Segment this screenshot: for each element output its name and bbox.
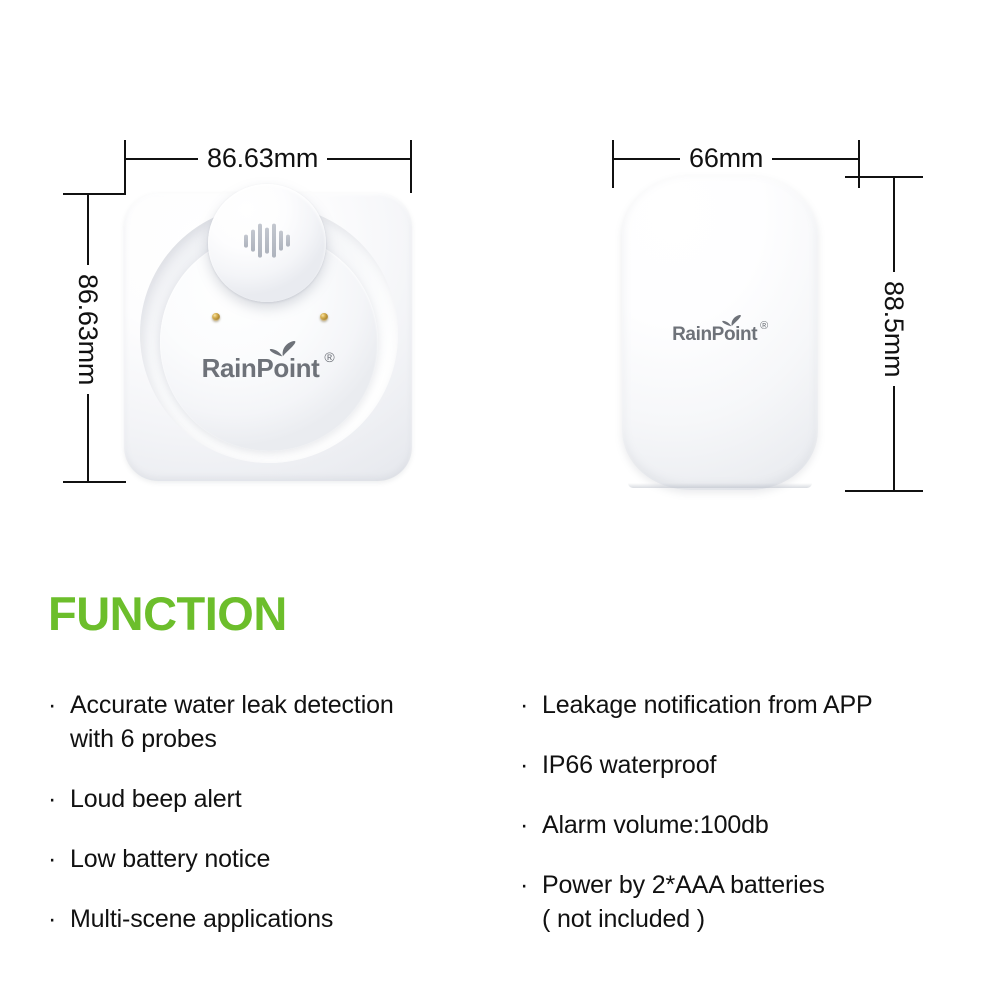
function-bullets-left-column: · Accurate water leak detection with 6 p…: [48, 688, 468, 962]
hub-brand-logo: RainPoint ®: [672, 324, 768, 346]
sensor-width-label: 86.63mm: [198, 143, 327, 173]
list-item: · Loud beep alert: [48, 782, 468, 816]
hub-width-tick-left: [612, 140, 614, 188]
bullet-glyph: ·: [48, 688, 70, 722]
hub-height-label: 88.5mm: [880, 272, 908, 386]
hub-width-tick-right: [858, 140, 860, 188]
bullet-glyph: ·: [520, 748, 542, 782]
sensor-width-tick-right: [410, 140, 412, 193]
list-item: · IP66 waterproof: [520, 748, 960, 782]
hub-bottom-seam: [628, 483, 812, 488]
sensor-width-tick-left: [124, 140, 126, 193]
water-leak-sensor-image: RainPoint ®: [124, 193, 412, 481]
function-bullets-right-column: · Leakage notification from APP · IP66 w…: [520, 688, 960, 962]
sensor-buzzer-dome: [208, 184, 326, 302]
sensor-brand-logo: RainPoint ®: [202, 353, 335, 384]
probe-contact-left: [212, 313, 220, 321]
list-item: · Multi-scene applications: [48, 902, 468, 936]
hub-width-label: 66mm: [680, 143, 772, 173]
list-item-text: Power by 2*AAA batteries ( not included …: [542, 868, 960, 936]
sensor-registered-mark: ®: [324, 349, 334, 365]
list-item-text: Leakage notification from APP: [542, 688, 960, 722]
hub-registered-mark: ®: [760, 320, 768, 332]
sensor-height-tick-top: [63, 193, 126, 195]
list-item-text: Alarm volume:100db: [542, 808, 960, 842]
list-item-text: Loud beep alert: [70, 782, 468, 816]
hub-brand-text: RainPoint: [672, 324, 757, 345]
list-item-text: Accurate water leak detection with 6 pro…: [70, 688, 468, 756]
probe-contact-right: [320, 313, 328, 321]
bullet-glyph: ·: [520, 808, 542, 842]
bullet-glyph: ·: [520, 868, 542, 902]
bullet-glyph: ·: [48, 902, 70, 936]
list-item-text: Multi-scene applications: [70, 902, 468, 936]
sensor-height-tick-bottom: [63, 481, 126, 483]
list-item-text: IP66 waterproof: [542, 748, 960, 782]
list-item: · Alarm volume:100db: [520, 808, 960, 842]
list-item: · Power by 2*AAA batteries ( not include…: [520, 868, 960, 936]
list-item: · Accurate water leak detection with 6 p…: [48, 688, 468, 756]
sensor-brand-text: RainPoint: [202, 353, 320, 383]
bullet-glyph: ·: [48, 782, 70, 816]
list-item: · Low battery notice: [48, 842, 468, 876]
sensor-height-label: 86.63mm: [74, 265, 102, 394]
hub-height-tick-top: [845, 176, 923, 178]
list-item: · Leakage notification from APP: [520, 688, 960, 722]
wifi-hub-image: RainPoint ®: [622, 176, 818, 490]
function-section-title: FUNCTION: [48, 588, 287, 640]
product-spec-page: 86.63mm 86.63mm RainPoint ®: [0, 0, 1000, 1000]
list-item-text: Low battery notice: [70, 842, 468, 876]
bullet-glyph: ·: [520, 688, 542, 722]
bullet-glyph: ·: [48, 842, 70, 876]
sound-wave-icon: [244, 221, 290, 261]
hub-height-tick-bottom: [845, 490, 923, 492]
